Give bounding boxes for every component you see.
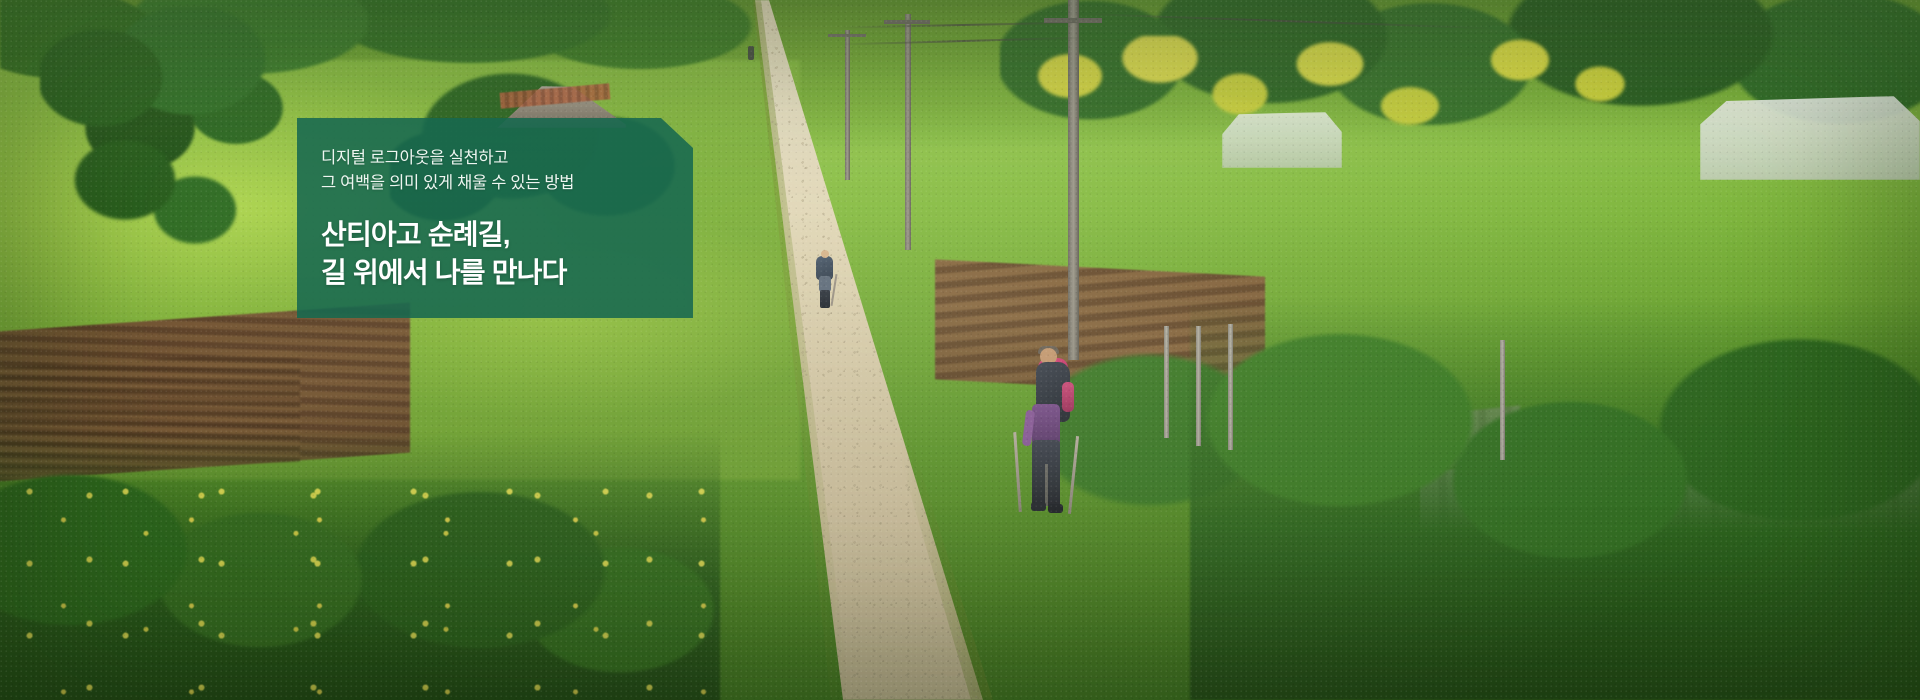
caption-headline-line-1: 산티아고 순례길, xyxy=(321,216,693,254)
utility-pole-b xyxy=(905,14,911,250)
fence-post xyxy=(1164,326,1169,438)
hiker-middle xyxy=(814,250,836,308)
caption-eyebrow-line-1: 디지털 로그아웃을 실천하고 xyxy=(321,146,693,171)
fence-post xyxy=(1228,324,1233,450)
hiker-leg-gap xyxy=(1045,464,1048,506)
foreground-vegetation-right xyxy=(1190,300,1920,700)
fence-post xyxy=(1196,326,1201,446)
caption-panel-content: 디지털 로그아웃을 실천하고 그 여백을 의미 있게 채울 수 있는 방법 산티… xyxy=(297,118,693,318)
hiker-boot-right xyxy=(1048,504,1063,513)
wildflowers xyxy=(20,470,720,700)
hiker-legs xyxy=(820,290,830,308)
caption-eyebrow: 디지털 로그아웃을 실천하고 그 여백을 의미 있게 채울 수 있는 방법 xyxy=(321,146,693,196)
background-photo xyxy=(0,0,1920,700)
hiker-boot-left xyxy=(1031,502,1046,511)
caption-eyebrow-line-2: 그 여백을 의미 있게 채울 수 있는 방법 xyxy=(321,171,693,196)
gorse-bushes-far xyxy=(1480,20,1680,130)
caption-headline: 산티아고 순례길, 길 위에서 나를 만나다 xyxy=(321,216,693,292)
greenhouse xyxy=(1700,96,1920,180)
utility-pole-main xyxy=(1068,0,1079,360)
caption-headline-line-2: 길 위에서 나를 만나다 xyxy=(321,254,693,292)
hiker-foreground xyxy=(1018,348,1080,524)
utility-pole-c xyxy=(845,30,850,180)
hiker-distant xyxy=(748,46,754,60)
utility-pole-b-crossarm xyxy=(884,20,930,24)
fence-post xyxy=(1500,340,1505,460)
backpack-side-pocket xyxy=(1062,382,1074,412)
hiker-torso xyxy=(1032,404,1060,444)
hero-banner: 디지털 로그아웃을 실천하고 그 여백을 의미 있게 채울 수 있는 방법 산티… xyxy=(0,0,1920,700)
trekking-pole-right xyxy=(1068,436,1079,514)
greenhouse-small xyxy=(1222,112,1342,168)
tree-left-lower xyxy=(55,120,255,290)
utility-pole-c-crossarm xyxy=(828,34,866,37)
hiker-head xyxy=(821,250,829,258)
